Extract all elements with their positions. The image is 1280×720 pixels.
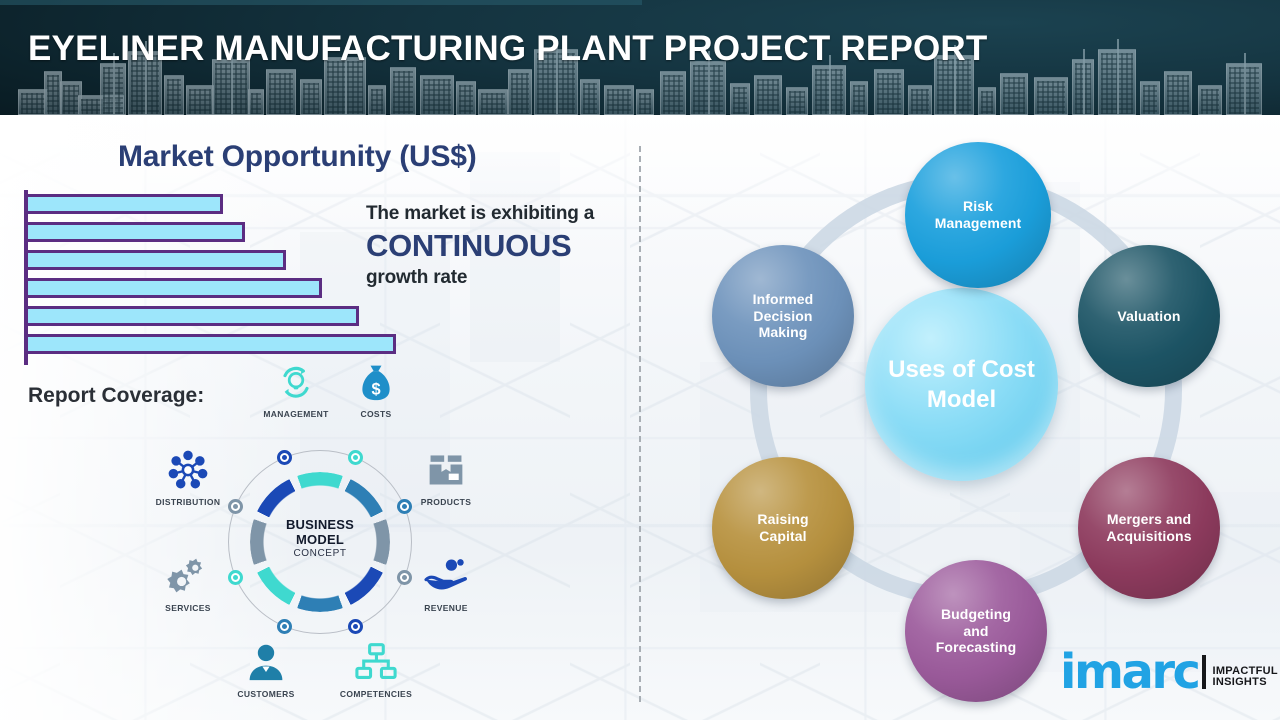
ring-node (348, 619, 363, 634)
center-circle: Uses of Cost Model (865, 288, 1058, 481)
cost-model-node: Mergers andAcquisitions (1078, 457, 1220, 599)
coverage-item-competencies: COMPETENCIES (328, 638, 424, 699)
coverage-item-customers: CUSTOMERS (218, 638, 314, 699)
cost-model-node-label: Risk (929, 198, 1028, 215)
chart-bar (28, 222, 245, 242)
growth-line-1: The market is exhibiting a (366, 203, 636, 225)
ring-node (277, 450, 292, 465)
cost-model-node-label: Mergers and (1100, 511, 1197, 528)
skyline-building (1164, 71, 1192, 115)
cost-model-node-label: Forecasting (930, 639, 1022, 656)
page-title: EYELINER MANUFACTURING PLANT PROJECT REP… (28, 29, 987, 69)
ring-node (348, 450, 363, 465)
ring-node (277, 619, 292, 634)
skyline-building (660, 71, 686, 115)
coverage-item-label: CUSTOMERS (218, 689, 314, 699)
coverage-item-label: COMPETENCIES (328, 689, 424, 699)
coverage-item-label: SERVICES (140, 603, 236, 613)
skyline-building (786, 87, 808, 115)
growth-highlight: CONTINUOUS (366, 227, 636, 266)
page-header: EYELINER MANUFACTURING PLANT PROJECT REP… (0, 0, 1280, 115)
ring-title-line2: MODEL (228, 533, 412, 548)
business-model-ring: BUSINESS MODEL CONCEPT (228, 450, 412, 634)
imarc-logo: imarc IMPACTFUL INSIGHTS (1060, 653, 1278, 692)
coverage-item-revenue: REVENUE (398, 552, 494, 613)
cost-model-node-label: Decision (747, 308, 820, 325)
coverage-item-costs: $ COSTS (328, 358, 424, 419)
cost-model-node-label: Acquisitions (1100, 528, 1197, 545)
cost-model-node: InformedDecisionMaking (712, 245, 854, 387)
cost-model-node-label: Valuation (1111, 308, 1186, 325)
left-panel-title: Market Opportunity (US$) (118, 140, 477, 174)
skyline-spire (1083, 49, 1085, 115)
cost-model-node-label: and (930, 623, 1022, 640)
svg-text:$: $ (371, 381, 380, 399)
logo-separator (1202, 655, 1206, 689)
skyline-building (978, 87, 996, 115)
cost-model-node-label: Making (747, 324, 820, 341)
cost-model-node: Valuation (1078, 245, 1220, 387)
money-bag-icon: $ (328, 358, 424, 406)
coverage-item-label: REVENUE (398, 603, 494, 613)
skyline-building (850, 81, 868, 115)
coverage-item-label: COSTS (328, 409, 424, 419)
coverage-item-label: PRODUCTS (398, 497, 494, 507)
cost-model-node-label: Informed (747, 291, 820, 308)
chart-bar (28, 278, 322, 298)
hand-coins-icon (398, 552, 494, 600)
cost-model-node-label: Management (929, 215, 1028, 232)
skyline-building (478, 89, 508, 115)
coverage-item-products: PRODUCTS (398, 446, 494, 507)
skyline-building (908, 85, 932, 115)
skyline-building (1000, 73, 1028, 115)
skyline-building (604, 85, 634, 115)
chart-bar (28, 306, 359, 326)
skyline-building (730, 83, 750, 115)
skyline-building (1198, 85, 1222, 115)
skyline-building (368, 85, 386, 115)
chart-bar (28, 250, 286, 270)
skyline-building (164, 75, 184, 115)
cost-model-node-label: Budgeting (930, 606, 1022, 623)
ring-subtitle: CONCEPT (228, 548, 412, 559)
growth-line-3: growth rate (366, 267, 636, 289)
panel-divider (639, 146, 641, 702)
skyline-building (456, 81, 476, 115)
chart-bar (28, 194, 223, 214)
skyline-building (420, 75, 454, 115)
header-notch (0, 0, 642, 5)
gears-icon (140, 552, 236, 600)
skyline-building (390, 67, 416, 115)
skyline-building (508, 69, 532, 115)
ring-center-text: BUSINESS MODEL CONCEPT (228, 518, 412, 559)
skyline-spire (1244, 53, 1246, 115)
box-package-icon (398, 446, 494, 494)
skyline-building (1140, 81, 1160, 115)
skyline-building (248, 89, 264, 115)
chart-bar (28, 334, 396, 354)
business-model-cluster: BUSINESS MODEL CONCEPT MANAGEMENT $ COST… (140, 368, 500, 704)
network-nodes-icon (140, 446, 236, 494)
cost-model-node: RaisingCapital (712, 457, 854, 599)
logo-tagline: IMPACTFUL INSIGHTS (1212, 666, 1277, 693)
growth-statement: The market is exhibiting a CONTINUOUS gr… (366, 203, 636, 289)
slide-root: EYELINER MANUFACTURING PLANT PROJECT REP… (0, 0, 1280, 720)
market-opportunity-bar-chart (24, 190, 424, 365)
skyline-building (874, 69, 904, 115)
cost-model-node: BudgetingandForecasting (905, 560, 1047, 702)
org-chart-icon (328, 638, 424, 686)
skyline-building (266, 69, 296, 115)
skyline-building (754, 75, 782, 115)
center-label-line1: Uses of (888, 356, 975, 383)
logo-wordmark: imarc (1060, 653, 1198, 692)
logo-tagline-line2: INSIGHTS (1212, 677, 1277, 689)
coverage-item-label: DISTRIBUTION (140, 497, 236, 507)
coverage-item-distribution: DISTRIBUTION (140, 446, 236, 507)
cost-model-node-label: Raising (751, 511, 814, 528)
cost-model-node: RiskManagement (905, 142, 1051, 288)
skyline-building (300, 79, 322, 115)
coverage-item-services: SERVICES (140, 552, 236, 613)
cost-model-node-label: Capital (751, 528, 814, 545)
skyline-building (636, 89, 654, 115)
skyline-building (580, 79, 600, 115)
skyline-building (1034, 77, 1068, 115)
person-user-icon (218, 638, 314, 686)
skyline-spire (1117, 39, 1119, 115)
uses-of-cost-model-diagram: Uses of Cost Model imarc IMPACTFUL INSIG… (650, 120, 1280, 720)
skyline-building (186, 85, 214, 115)
ring-title-line1: BUSINESS (228, 518, 412, 533)
